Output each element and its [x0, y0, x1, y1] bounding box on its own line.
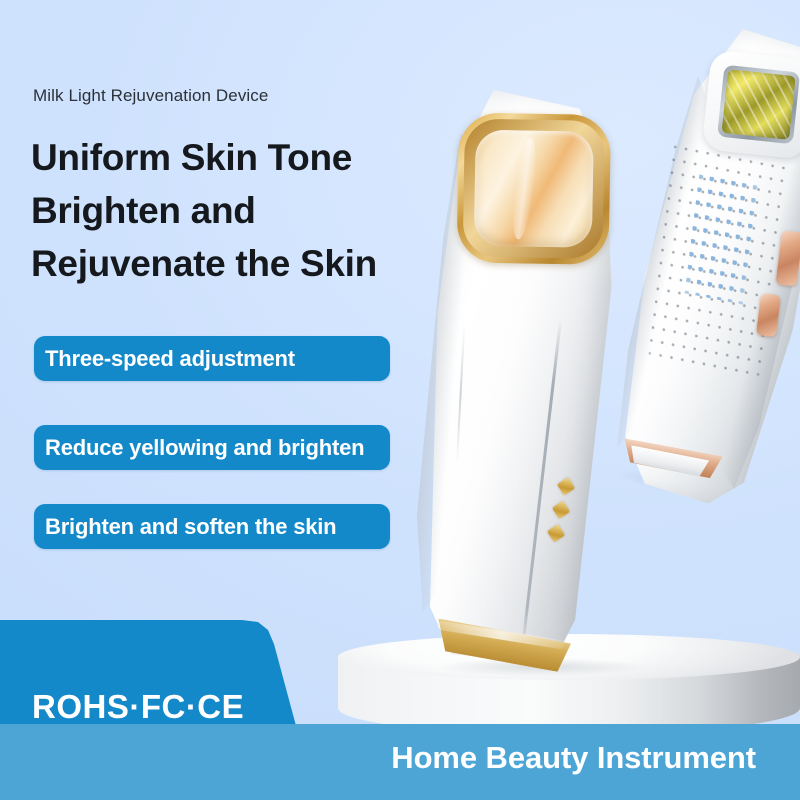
wand-head-glass-panel	[474, 130, 594, 248]
feature-pill-brighten-soften[interactable]: Brighten and soften the skin	[34, 504, 390, 549]
product-subtitle: Milk Light Rejuvenation Device	[33, 86, 268, 106]
wand-head-gloss-highlight	[509, 137, 540, 241]
footer-banner-label: Home Beauty Instrument	[391, 740, 756, 776]
ipl-lamp-frame	[717, 65, 800, 145]
feature-pill-label: Three-speed adjustment	[34, 346, 295, 372]
certification-label: ROHS·FC·CE	[32, 688, 244, 726]
feature-pill-label: Reduce yellowing and brighten	[34, 435, 364, 461]
headline-line-2: Brighten and	[31, 190, 256, 231]
milk-light-rejuvenation-wand	[383, 78, 609, 668]
product-poster: Milk Light Rejuvenation Device Uniform S…	[0, 0, 800, 800]
ipl-lamp-housing	[702, 49, 800, 159]
wand-gold-treatment-head	[456, 112, 611, 265]
headline-line-3: Rejuvenate the Skin	[31, 243, 377, 284]
wand-head-ring	[463, 118, 605, 258]
feature-pill-three-speed-adjustment[interactable]: Three-speed adjustment	[34, 336, 390, 381]
feature-pill-label: Brighten and soften the skin	[34, 514, 336, 540]
feature-pill-reduce-yellowing[interactable]: Reduce yellowing and brighten	[34, 425, 390, 470]
headline-line-1: Uniform Skin Tone	[31, 137, 352, 178]
ipl-quartz-lamp-window	[721, 69, 795, 140]
page-title: Uniform Skin ToneBrighten andRejuvenate …	[31, 131, 377, 290]
